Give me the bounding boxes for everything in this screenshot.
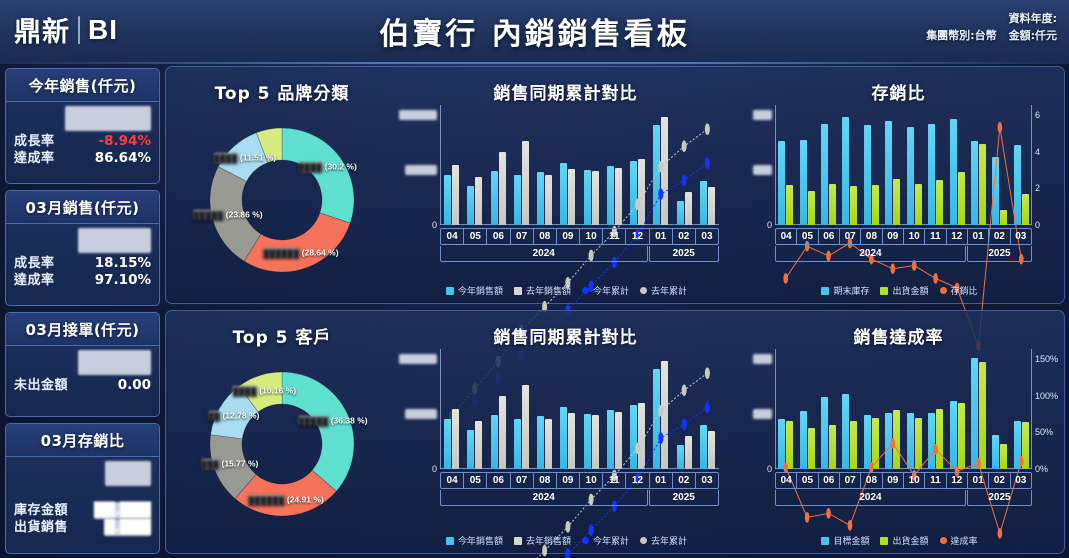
data-point[interactable] bbox=[682, 140, 687, 152]
legend-label: 去年累計 bbox=[651, 534, 687, 547]
chart-card-stock-ratio: 存銷比 0██████02460405060708091011120102032… bbox=[733, 67, 1064, 303]
legend-swatch bbox=[880, 287, 888, 295]
year-cell: 2025 bbox=[649, 246, 720, 262]
legend-item[interactable]: 達成率 bbox=[940, 534, 978, 547]
redacted-value: ███,███ bbox=[65, 106, 151, 131]
month-cell: 09 bbox=[557, 473, 580, 488]
x-axis-month-labels: 040506070809101112010203 bbox=[440, 228, 719, 245]
kpi-row-label: 成長率 bbox=[14, 133, 55, 150]
legend-swatch bbox=[514, 287, 522, 295]
meta-currency: 集團幣別:台幣 bbox=[926, 27, 996, 44]
data-point[interactable] bbox=[783, 273, 788, 284]
data-point[interactable] bbox=[890, 438, 895, 449]
kpi-card-title: 今年銷售(仟元) bbox=[6, 69, 159, 102]
redacted-tick: ███ bbox=[753, 165, 772, 175]
legend-label: 去年累計 bbox=[651, 284, 687, 297]
donut-slice-label: █████ (23.86 %) bbox=[193, 209, 262, 220]
y-tick-label-right: 150% bbox=[1035, 354, 1058, 364]
kpi-row-label: 成長率 bbox=[14, 255, 55, 272]
bottom-panel: Top 5 客戶 █████ (36.38 %)██████ (24.91 %)… bbox=[165, 310, 1065, 554]
legend-item[interactable]: 目標金額 bbox=[821, 534, 869, 547]
data-point[interactable] bbox=[890, 263, 895, 274]
kpi-rows: 成長率18.15%達成率97.10% bbox=[14, 255, 151, 289]
legend-swatch bbox=[640, 287, 647, 294]
y-tick-label-right: 0 bbox=[1035, 220, 1040, 230]
y-tick-label: 0 bbox=[432, 220, 437, 230]
month-cell: 01 bbox=[968, 473, 989, 488]
month-cell: 11 bbox=[603, 473, 626, 488]
year-cell: 2025 bbox=[649, 490, 720, 506]
year-cell: 2024 bbox=[775, 490, 966, 506]
legend-swatch bbox=[446, 537, 454, 545]
kpi-card-body: ██,███成長率18.15%達成率97.10% bbox=[6, 224, 159, 305]
month-cell: 02 bbox=[673, 229, 696, 244]
y-tick-label: █████ bbox=[405, 409, 437, 419]
donut-slice-label: ████ (10.16 %) bbox=[233, 386, 296, 397]
y-tick-label: ███ bbox=[753, 354, 772, 364]
donut-svg bbox=[184, 105, 380, 295]
donut-slice-label: ██ (12.78 %) bbox=[208, 410, 259, 421]
x-axis-month-labels: 040506070809101112010203 bbox=[775, 228, 1032, 245]
bar-line-chart-sales-cum-bottom[interactable]: 0███████████0405060708091011120102032024… bbox=[406, 345, 727, 549]
month-cell: 06 bbox=[487, 473, 510, 488]
data-point[interactable] bbox=[826, 508, 831, 519]
chart-legend: 目標金額出貨金額達成率 bbox=[741, 534, 1058, 547]
month-cell: 09 bbox=[883, 229, 904, 244]
redacted-series-name: ██████ bbox=[263, 247, 299, 258]
data-point[interactable] bbox=[933, 444, 938, 455]
donut-slice-label: ████ (11.51 %) bbox=[213, 153, 276, 164]
month-cell: 11 bbox=[925, 229, 946, 244]
donut-slice-percent: (12.78 %) bbox=[220, 410, 259, 420]
plot-area: 0██████0246 bbox=[775, 105, 1032, 225]
legend-item[interactable]: 存銷比 bbox=[940, 284, 978, 297]
legend-swatch bbox=[582, 537, 589, 544]
donut-svg bbox=[184, 349, 380, 539]
line-overlay bbox=[440, 349, 719, 558]
donut-slice-percent: (36.38 %) bbox=[328, 415, 367, 425]
header-meta: 資料年度: 集團幣別:台幣 金額:仟元 bbox=[926, 10, 1057, 44]
kpi-card-title: 03月存銷比 bbox=[6, 424, 159, 457]
data-point[interactable] bbox=[565, 521, 570, 533]
chart-legend: 今年銷售額去年銷售額今年累計去年累計 bbox=[406, 284, 727, 297]
redacted-tick: █████ bbox=[405, 165, 437, 175]
month-cell: 06 bbox=[819, 473, 840, 488]
donut-slice-label: ██████ (24.91 %) bbox=[248, 495, 323, 506]
month-cell: 04 bbox=[776, 473, 797, 488]
redacted-value: █.██ bbox=[105, 461, 151, 486]
month-cell: 08 bbox=[861, 473, 882, 488]
data-point[interactable] bbox=[565, 548, 570, 558]
donut-slice-label: ██████ (28.64 %) bbox=[263, 247, 338, 258]
kpi-sidebar: 今年銷售(仟元)███,███成長率-8.94%達成率86.64%03月銷售(仟… bbox=[5, 68, 160, 554]
month-cell: 07 bbox=[511, 473, 534, 488]
donut-slice-percent: (28.64 %) bbox=[299, 247, 338, 257]
kpi-row: 成長率-8.94% bbox=[14, 133, 151, 150]
data-point[interactable] bbox=[682, 175, 687, 187]
x-axis-year-labels: 20242025 bbox=[775, 246, 1032, 262]
kpi-row-value: 97.10% bbox=[95, 272, 151, 289]
data-point[interactable] bbox=[848, 520, 853, 531]
year-cell: 2024 bbox=[440, 490, 648, 506]
legend-item[interactable]: 期末庫存 bbox=[821, 284, 869, 297]
month-cell: 11 bbox=[603, 229, 626, 244]
y-tick-label: ███ bbox=[753, 110, 772, 120]
kpi-main-value: ███,███ bbox=[14, 106, 151, 131]
dashboard-root: 鼎新 BI 伯寶行 內銷銷售看板 資料年度: 集團幣別:台幣 金額:仟元 今年銷… bbox=[0, 0, 1069, 558]
legend-label: 達成率 bbox=[951, 534, 978, 547]
redacted-series-name: ██████ bbox=[248, 495, 284, 506]
data-point[interactable] bbox=[682, 384, 687, 396]
year-cell: 2024 bbox=[440, 246, 648, 262]
month-cell: 10 bbox=[904, 473, 925, 488]
plot-area: 0██████0%50%100%150% bbox=[775, 349, 1032, 469]
redacted-value: ██,███ bbox=[78, 228, 151, 253]
y-tick-label-right: 100% bbox=[1035, 391, 1058, 401]
month-cell: 04 bbox=[441, 229, 464, 244]
donut-slice-percent: (15.77 %) bbox=[219, 459, 258, 469]
y-tick-label-right: 0% bbox=[1035, 464, 1048, 474]
y-tick-label: 0 bbox=[432, 464, 437, 474]
month-cell: 10 bbox=[904, 229, 925, 244]
legend-label: 今年銷售額 bbox=[458, 534, 503, 547]
legend-label: 期末庫存 bbox=[833, 284, 869, 297]
donut-slice-percent: (23.86 %) bbox=[223, 209, 262, 219]
y-tick-label: ██████ bbox=[399, 354, 437, 364]
donut-slice-percent: (30.2 %) bbox=[322, 162, 357, 172]
kpi-card-1[interactable]: 03月銷售(仟元)██,███成長率18.15%達成率97.10% bbox=[5, 190, 160, 306]
kpi-card-body: █.██庫存金額██,███出貨銷售█,███ bbox=[6, 457, 159, 553]
kpi-row-label: 達成率 bbox=[14, 150, 55, 167]
redacted-series-name: ████ bbox=[298, 162, 322, 173]
top-panel: Top 5 品牌分類 ████ (30.2 %)██████ (28.64 %)… bbox=[165, 66, 1065, 304]
data-point[interactable] bbox=[705, 401, 710, 413]
donut-slice-percent: (11.51 %) bbox=[238, 153, 277, 163]
legend-swatch bbox=[821, 287, 829, 295]
legend-swatch bbox=[640, 537, 647, 544]
donut-slice-percent: (10.16 %) bbox=[257, 386, 296, 396]
legend-swatch bbox=[940, 537, 947, 544]
year-cell: 2025 bbox=[967, 490, 1032, 506]
data-point[interactable] bbox=[976, 458, 981, 469]
month-cell: 08 bbox=[534, 473, 557, 488]
month-cell: 04 bbox=[776, 229, 797, 244]
legend-swatch bbox=[880, 537, 888, 545]
kpi-row-value: 0.00 bbox=[118, 377, 151, 394]
month-cell: 01 bbox=[650, 229, 673, 244]
legend-item[interactable]: 去年銷售額 bbox=[514, 534, 571, 547]
kpi-row: 成長率18.15% bbox=[14, 255, 151, 272]
donut-slice[interactable] bbox=[244, 213, 350, 272]
data-point[interactable] bbox=[658, 161, 663, 173]
data-point[interactable] bbox=[658, 432, 663, 444]
donut-chart-top5-customer[interactable]: █████ (36.38 %)██████ (24.91 %)███ (15.7… bbox=[166, 347, 398, 543]
meta-year-label: 資料年度: bbox=[926, 10, 1057, 27]
legend-label: 今年銷售額 bbox=[458, 284, 503, 297]
kpi-row-label: 未出金額 bbox=[14, 377, 68, 394]
legend-item[interactable]: 今年銷售額 bbox=[446, 534, 503, 547]
month-cell: 06 bbox=[819, 229, 840, 244]
legend-label: 存銷比 bbox=[951, 284, 978, 297]
redacted-series-name: ████ bbox=[233, 386, 257, 397]
legend-label: 去年銷售額 bbox=[526, 284, 571, 297]
year-cell: 2025 bbox=[967, 246, 1032, 262]
legend-swatch bbox=[514, 537, 522, 545]
legend-item[interactable]: 出貨金額 bbox=[880, 284, 928, 297]
bar-line-chart-sales-cum-top[interactable]: 0███████████0405060708091011120102032024… bbox=[406, 101, 727, 299]
bar-line-chart-stock-ratio[interactable]: 0██████024604050607080910111201020320242… bbox=[741, 101, 1058, 299]
redacted-series-name: ██ bbox=[208, 410, 220, 421]
month-cell: 09 bbox=[883, 473, 904, 488]
month-cell: 04 bbox=[441, 473, 464, 488]
chart-legend: 今年銷售額去年銷售額今年累計去年累計 bbox=[406, 534, 727, 547]
kpi-row-value: -8.94% bbox=[99, 133, 151, 150]
line-series bbox=[452, 373, 708, 558]
data-point[interactable] bbox=[658, 405, 663, 417]
month-cell: 02 bbox=[989, 229, 1010, 244]
kpi-row-label: 達成率 bbox=[14, 272, 55, 289]
y-tick-label-right: 6 bbox=[1035, 110, 1040, 120]
month-cell: 02 bbox=[673, 473, 696, 488]
legend-label: 目標金額 bbox=[833, 534, 869, 547]
kpi-card-title: 03月接單(仟元) bbox=[6, 313, 159, 346]
chart-title: Top 5 客戶 bbox=[166, 323, 398, 348]
bar-line-chart-achievement[interactable]: 0██████0%50%100%150%04050607080910111201… bbox=[741, 345, 1058, 549]
y-tick-label: █████ bbox=[405, 165, 437, 175]
redacted-series-name: █████ bbox=[193, 209, 223, 220]
kpi-main-value: █.██ bbox=[14, 461, 151, 486]
kpi-row-value: █,███ bbox=[104, 519, 151, 536]
kpi-row-value: 86.64% bbox=[95, 150, 151, 167]
legend-item[interactable]: 去年累計 bbox=[640, 534, 687, 547]
redacted-tick: ███ bbox=[753, 354, 772, 364]
kpi-row-value: 18.15% bbox=[95, 255, 151, 272]
redacted-value: ██,███ bbox=[78, 350, 151, 375]
year-cell: 2024 bbox=[775, 246, 966, 262]
kpi-main-value: ██,███ bbox=[14, 228, 151, 253]
redacted-tick: ███ bbox=[753, 110, 772, 120]
chart-title: Top 5 品牌分類 bbox=[166, 79, 398, 104]
donut-slice-label: ███ (15.77 %) bbox=[201, 459, 258, 470]
data-point[interactable] bbox=[658, 188, 663, 200]
data-point[interactable] bbox=[705, 367, 710, 379]
month-cell: 05 bbox=[464, 229, 487, 244]
month-cell: 08 bbox=[534, 229, 557, 244]
x-axis-year-labels: 20242025 bbox=[440, 490, 719, 506]
data-point[interactable] bbox=[635, 198, 640, 210]
month-cell: 01 bbox=[650, 473, 673, 488]
kpi-card-body: ██,███未出金額0.00 bbox=[6, 346, 159, 416]
legend-label: 去年銷售額 bbox=[526, 534, 571, 547]
y-tick-label: 0 bbox=[767, 464, 772, 474]
data-point[interactable] bbox=[998, 122, 1003, 133]
month-cell: 03 bbox=[1011, 473, 1031, 488]
kpi-row-label: 出貨銷售 bbox=[14, 519, 68, 536]
month-cell: 09 bbox=[557, 229, 580, 244]
month-cell: 12 bbox=[626, 229, 649, 244]
kpi-rows: 庫存金額██,███出貨銷售█,███ bbox=[14, 502, 151, 536]
legend-label: 出貨金額 bbox=[892, 284, 928, 297]
legend-item[interactable]: 去年銷售額 bbox=[514, 284, 571, 297]
kpi-card-3[interactable]: 03月存銷比█.██庫存金額██,███出貨銷售█,███ bbox=[5, 423, 160, 554]
plot-area: 0███████████ bbox=[440, 105, 719, 225]
kpi-row: 庫存金額██,███ bbox=[14, 502, 151, 519]
legend-item[interactable]: 今年銷售額 bbox=[446, 284, 503, 297]
month-cell: 08 bbox=[861, 229, 882, 244]
redacted-tick: █████ bbox=[405, 409, 437, 419]
kpi-card-2[interactable]: 03月接單(仟元)██,███未出金額0.00 bbox=[5, 312, 160, 417]
kpi-row: 達成率97.10% bbox=[14, 272, 151, 289]
legend-label: 今年累計 bbox=[593, 284, 629, 297]
redacted-tick: ███ bbox=[753, 409, 772, 419]
legend-label: 今年累計 bbox=[593, 534, 629, 547]
month-cell: 05 bbox=[797, 229, 818, 244]
kpi-row: 達成率86.64% bbox=[14, 150, 151, 167]
x-axis-year-labels: 20242025 bbox=[440, 246, 719, 262]
redacted-series-name: ████ bbox=[213, 153, 237, 164]
month-cell: 12 bbox=[626, 473, 649, 488]
data-point[interactable] bbox=[933, 273, 938, 284]
legend-item[interactable]: 今年累計 bbox=[582, 284, 629, 297]
meta-amount-unit: 金額:仟元 bbox=[1009, 27, 1057, 44]
chart-card-achievement: 銷售達成率 0██████0%50%100%150%04050607080910… bbox=[733, 311, 1064, 553]
data-point[interactable] bbox=[805, 512, 810, 523]
data-point[interactable] bbox=[635, 442, 640, 454]
month-cell: 03 bbox=[696, 229, 718, 244]
kpi-card-0[interactable]: 今年銷售(仟元)███,███成長率-8.94%達成率86.64% bbox=[5, 68, 160, 184]
y-tick-label-right: 4 bbox=[1035, 147, 1040, 157]
kpi-rows: 未出金額0.00 bbox=[14, 377, 151, 394]
donut-slice-percent: (24.91 %) bbox=[285, 495, 324, 505]
kpi-card-title: 03月銷售(仟元) bbox=[6, 191, 159, 224]
chart-card-top5-customer: Top 5 客戶 █████ (36.38 %)██████ (24.91 %)… bbox=[166, 311, 398, 553]
legend-item[interactable]: 去年累計 bbox=[640, 284, 687, 297]
legend-swatch bbox=[940, 287, 947, 294]
month-cell: 01 bbox=[968, 229, 989, 244]
x-axis-month-labels: 040506070809101112010203 bbox=[440, 472, 719, 489]
legend-swatch bbox=[821, 537, 829, 545]
data-point[interactable] bbox=[1019, 456, 1024, 467]
legend-item[interactable]: 今年累計 bbox=[582, 534, 629, 547]
kpi-main-value: ██,███ bbox=[14, 350, 151, 375]
y-tick-label: 0 bbox=[767, 220, 772, 230]
month-cell: 12 bbox=[947, 473, 968, 488]
chart-legend: 期末庫存出貨金額存銷比 bbox=[741, 284, 1058, 297]
month-cell: 03 bbox=[1011, 229, 1031, 244]
donut-slice-label: ████ (30.2 %) bbox=[298, 162, 357, 173]
donut-slice[interactable] bbox=[282, 128, 354, 223]
legend-swatch bbox=[446, 287, 454, 295]
month-cell: 10 bbox=[580, 229, 603, 244]
kpi-row-value: ██,███ bbox=[94, 502, 151, 519]
redacted-tick: ██████ bbox=[399, 354, 437, 364]
month-cell: 10 bbox=[580, 473, 603, 488]
kpi-card-body: ███,███成長率-8.94%達成率86.64% bbox=[6, 102, 159, 183]
y-tick-label-right: 50% bbox=[1035, 427, 1053, 437]
month-cell: 03 bbox=[696, 473, 718, 488]
data-point[interactable] bbox=[705, 123, 710, 135]
chart-card-sales-cum-top: 銷售同期累計對比 0███████████0405060708091011120… bbox=[398, 67, 733, 303]
y-tick-label: ███ bbox=[753, 409, 772, 419]
month-cell: 07 bbox=[511, 229, 534, 244]
line-overlay bbox=[775, 349, 1032, 558]
dashboard-header: 鼎新 BI 伯寶行 內銷銷售看板 資料年度: 集團幣別:台幣 金額:仟元 bbox=[0, 0, 1069, 64]
chart-card-sales-cum-bottom: 銷售同期累計對比 0███████████0405060708091011120… bbox=[398, 311, 733, 553]
month-cell: 12 bbox=[947, 229, 968, 244]
month-cell: 05 bbox=[464, 473, 487, 488]
legend-swatch bbox=[582, 287, 589, 294]
month-cell: 02 bbox=[989, 473, 1010, 488]
donut-chart-top5-brand[interactable]: ████ (30.2 %)██████ (28.64 %)█████ (23.8… bbox=[166, 103, 398, 299]
redacted-tick: ██████ bbox=[399, 110, 437, 120]
plot-area: 0███████████ bbox=[440, 349, 719, 469]
page-title: 伯寶行 內銷銷售看板 bbox=[0, 9, 1069, 53]
month-cell: 07 bbox=[840, 229, 861, 244]
kpi-row: 出貨銷售█,███ bbox=[14, 519, 151, 536]
legend-label: 出貨金額 bbox=[892, 534, 928, 547]
chart-card-top5-brand: Top 5 品牌分類 ████ (30.2 %)██████ (28.64 %)… bbox=[166, 67, 398, 303]
x-axis-year-labels: 20242025 bbox=[775, 490, 1032, 506]
month-cell: 07 bbox=[840, 473, 861, 488]
kpi-row-label: 庫存金額 bbox=[14, 502, 68, 519]
kpi-row: 未出金額0.00 bbox=[14, 377, 151, 394]
redacted-series-name: █████ bbox=[298, 415, 328, 426]
month-cell: 06 bbox=[487, 229, 510, 244]
y-tick-label: ███ bbox=[753, 165, 772, 175]
month-cell: 05 bbox=[797, 473, 818, 488]
y-tick-label-right: 2 bbox=[1035, 183, 1040, 193]
data-point[interactable] bbox=[705, 157, 710, 169]
legend-item[interactable]: 出貨金額 bbox=[880, 534, 928, 547]
redacted-series-name: ███ bbox=[201, 459, 219, 470]
kpi-rows: 成長率-8.94%達成率86.64% bbox=[14, 133, 151, 167]
data-point[interactable] bbox=[682, 419, 687, 431]
x-axis-month-labels: 040506070809101112010203 bbox=[775, 472, 1032, 489]
y-tick-label: ██████ bbox=[399, 110, 437, 120]
month-cell: 11 bbox=[925, 473, 946, 488]
donut-slice-label: █████ (36.38 %) bbox=[298, 415, 367, 426]
